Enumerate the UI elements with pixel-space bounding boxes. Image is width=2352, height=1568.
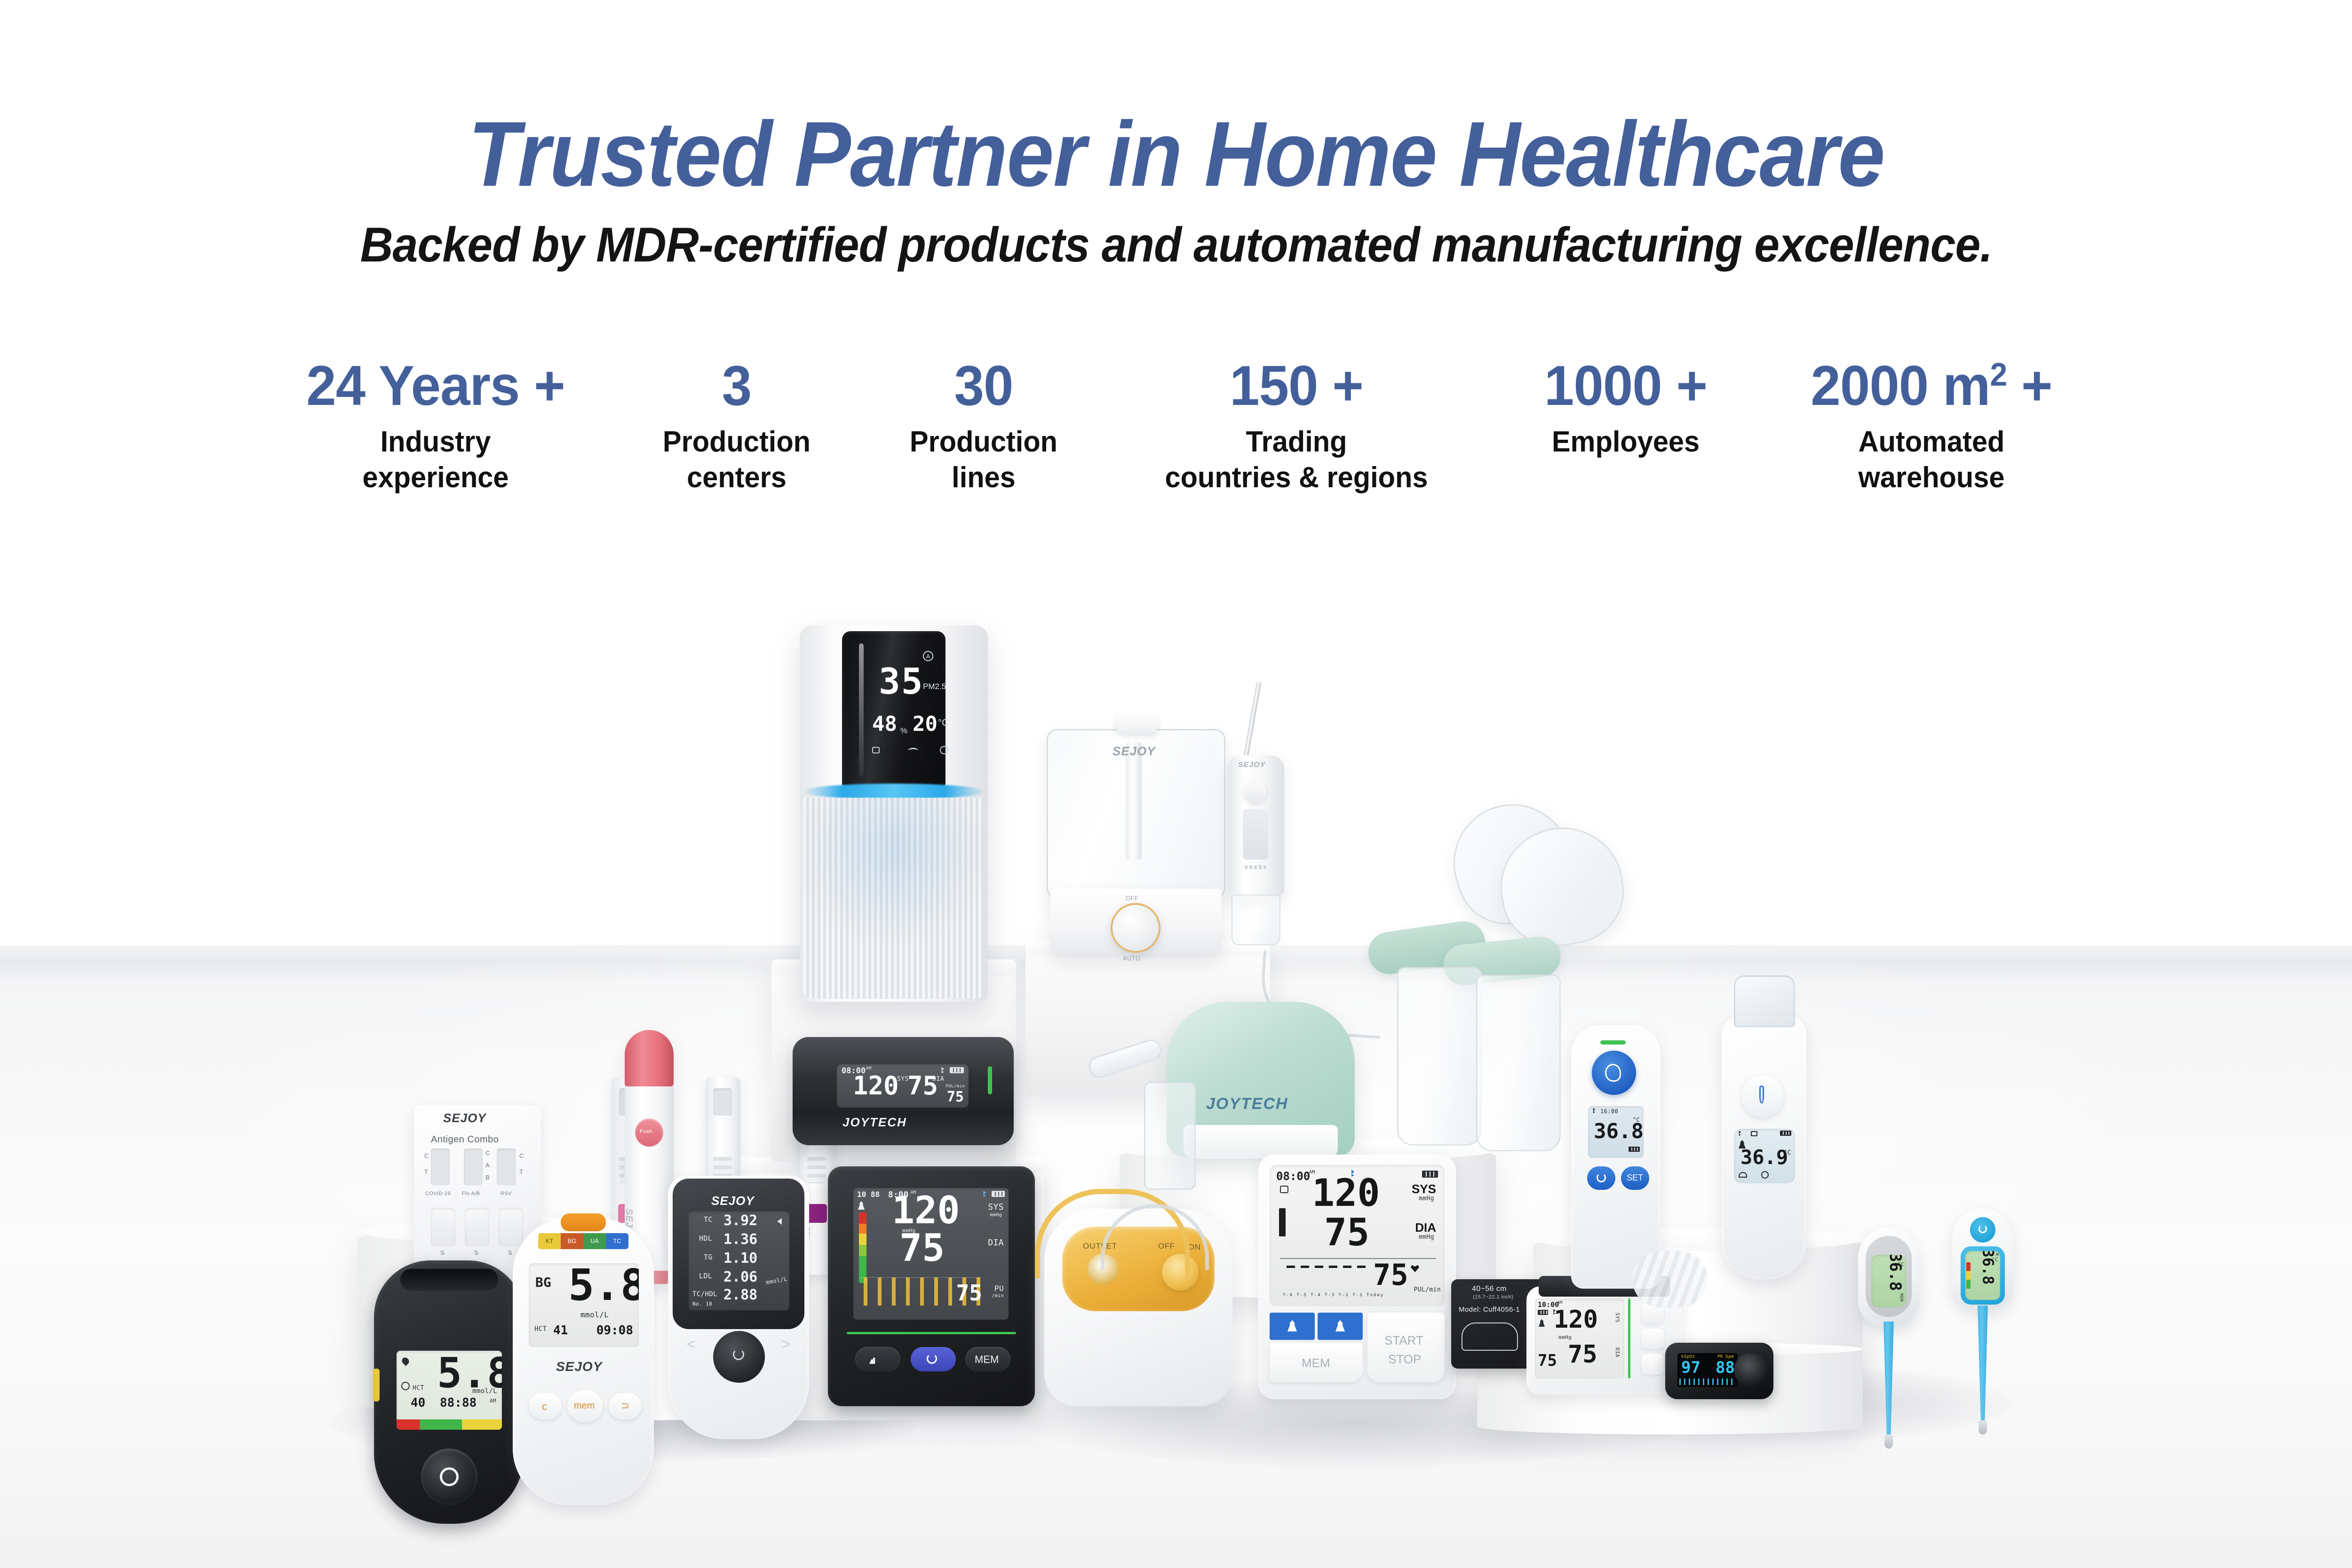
- row-label-ldl: LDL: [699, 1272, 712, 1280]
- ear-thermometer-time: 16:00: [1600, 1108, 1618, 1115]
- air-purifier-display: A 35 PM2.5 48 % 20 °C: [842, 631, 946, 786]
- cholesterol-nav-next[interactable]: >: [781, 1336, 790, 1353]
- product-digital-thermometer-grey[interactable]: 36.8 °C MEM: [1858, 1227, 1919, 1449]
- hand-outline-icon: [1462, 1323, 1518, 1351]
- bp-white-dia-value: 75: [1324, 1216, 1369, 1250]
- bp-black-accent-line: [847, 1332, 1016, 1334]
- humidifier-cap[interactable]: [1116, 713, 1158, 734]
- humidity-value: 48: [872, 712, 897, 736]
- bp-cuff-pul-label: PUL/min: [946, 1084, 965, 1089]
- antigen-window-1: [431, 1148, 450, 1185]
- digital-thermometer-blue-value: 36.8: [1979, 1251, 1997, 1285]
- bp-wrist-ampm: AM: [1557, 1300, 1562, 1305]
- row-label-tc: TC: [704, 1215, 713, 1224]
- heart-icon: [1411, 1265, 1419, 1272]
- lock-icon: [1280, 1186, 1288, 1193]
- smiley-icon: [401, 1382, 410, 1390]
- bp-black-pu-unit: /min: [992, 1293, 1004, 1299]
- air-purifier-light-ring: [803, 784, 985, 800]
- cuff-size-inch-label: (15.7~22.1 inch): [1473, 1294, 1513, 1300]
- pm25-value: 35: [879, 660, 924, 702]
- row-value-ratio: 2.88: [723, 1287, 757, 1303]
- humidifier-inner-column: [1126, 742, 1142, 860]
- bluetooth-icon: [1592, 1108, 1595, 1113]
- glucometer-white-hct-value: 41: [553, 1323, 568, 1338]
- oximeter-display: %SpO2 PR bpm 97 88: [1677, 1353, 1738, 1387]
- row-label-tg: TG: [704, 1253, 713, 1261]
- bp-cuff-status-light: [988, 1066, 992, 1094]
- oximeter-spo2-value: 97: [1681, 1361, 1700, 1375]
- glucometer-white-mode-tabs[interactable]: KT BG UA TC: [538, 1233, 628, 1249]
- antigen-mark-b: B: [485, 1174, 490, 1181]
- bp-wrist-dia-label: DIA: [1614, 1347, 1621, 1357]
- wifi-icon: [908, 748, 918, 753]
- product-oral-irrigator[interactable]: SEJOY: [1223, 710, 1289, 945]
- bluetooth-icon: [940, 1067, 944, 1073]
- humidifier-auto-label: AUTO: [1123, 955, 1140, 962]
- antigen-sample-well-2: [465, 1208, 489, 1246]
- bp-white-mem-label: MEM: [1302, 1356, 1330, 1370]
- bp-white-start-label: START: [1384, 1333, 1423, 1348]
- digital-thermometer-blue-display: 36.8 °C M: [1965, 1251, 2000, 1300]
- battery-icon: [1780, 1131, 1791, 1136]
- bp-black-display: 10 88 8:00 AM 120 SYS mmHg 75 DIA mmHg 7…: [853, 1188, 1009, 1320]
- joytech-base: [1184, 1125, 1338, 1159]
- cuff-model-label: Model: Cuff4056-1: [1459, 1306, 1520, 1314]
- blood-drop-icon: [400, 1356, 410, 1366]
- glucometer-eject-icon: [440, 1467, 459, 1486]
- forehead-thermometer-value: 36.9: [1740, 1148, 1788, 1166]
- irrigator-brand: SEJOY: [1238, 761, 1265, 769]
- row-value-ldl: 2.06: [723, 1269, 757, 1285]
- bp-wrist-dia-value: 75: [1568, 1344, 1597, 1366]
- antigen-mark-a: A: [485, 1162, 490, 1169]
- thermometer-tip: [1979, 1420, 1987, 1434]
- cholesterol-display: TC 3.92 HDL 1.36 TG 1.10 LDL 2.06 TC/HDL…: [689, 1212, 789, 1310]
- product-ear-thermometer[interactable]: 16:00 °C 36.8 SET: [1571, 1025, 1661, 1289]
- glucometer-white-button-c-label: c: [542, 1401, 547, 1413]
- cholesterol-unit: mmol/L: [765, 1275, 787, 1286]
- oximeter-waveform: [1679, 1378, 1736, 1385]
- irrigator-power-button[interactable]: [1244, 781, 1266, 803]
- bp-wrist-sys-label: SYS: [1614, 1313, 1621, 1323]
- strip-window: [713, 1088, 732, 1116]
- ear-thermometer-status-light: [1600, 1040, 1626, 1045]
- glucometer-white-time: 09:08: [596, 1323, 633, 1338]
- pump-bottle-left: [1397, 967, 1482, 1146]
- digital-thermometer-grey-value: 36.8: [1886, 1255, 1905, 1291]
- glucometer-white-unit: mmol/L: [580, 1310, 609, 1319]
- bp-black-date: 10 88: [857, 1190, 880, 1199]
- mode-tab-kt[interactable]: KT: [538, 1233, 561, 1249]
- thermometer-probe: [1975, 1306, 1991, 1424]
- user-icon: [1539, 1319, 1545, 1327]
- digital-thermometer-blue-mem: M: [1996, 1253, 1999, 1258]
- row-value-hdl: 1.36: [723, 1231, 757, 1248]
- bp-wrist-unit: mmHg: [1558, 1334, 1572, 1340]
- forehead-thermometer-display: 36.9 °C: [1734, 1129, 1795, 1183]
- nebulizer-mask-cup: [1144, 1082, 1196, 1190]
- row-value-tg: 1.10: [723, 1250, 757, 1267]
- glucometer-white-top-tab[interactable]: [561, 1213, 606, 1231]
- bluetooth-icon: [982, 1191, 986, 1197]
- humidifier-dial[interactable]: [1111, 903, 1160, 953]
- bp-white-pul-label: PUL/min: [1414, 1286, 1441, 1293]
- bp-wrist-accent-line: [1628, 1299, 1630, 1378]
- product-glucometer-white[interactable]: KT BG UA TC BG 5.8 mmol/L HCT 41 09:08 S…: [513, 1218, 654, 1505]
- product-stage: A 35 PM2.5 48 % 20 °C SEJOY OFF AUTO SEJ…: [0, 0, 2352, 1568]
- glucometer-white-display: BG 5.8 mmol/L HCT 41 09:08: [529, 1263, 639, 1347]
- bp-wrist-power-button[interactable]: [1641, 1329, 1664, 1349]
- cuff-size-label: 40~56 cm: [1472, 1285, 1507, 1293]
- glucometer-white-mode: BG: [535, 1275, 551, 1290]
- glucometer-black-range-bar: [397, 1419, 502, 1430]
- bp-black-sys-value: 120: [892, 1194, 960, 1227]
- product-digital-thermometer-blue[interactable]: 36.8 °C M: [1952, 1209, 2013, 1434]
- glucometer-white-button-mem-label: mem: [574, 1401, 595, 1411]
- lancing-pen-cap: [625, 1030, 674, 1086]
- bp-wrist-sys-value: 120: [1554, 1309, 1598, 1331]
- product-glucometer-black[interactable]: 5.8 mmol/L HCT 40 88:88 AM: [374, 1260, 524, 1524]
- temperature-unit: °C: [938, 718, 948, 729]
- glucometer-black-display: 5.8 mmol/L HCT 40 88:88 AM: [397, 1351, 502, 1430]
- glucometer-black-value: 5.8: [437, 1354, 502, 1392]
- mode-tab-ua[interactable]: UA: [583, 1233, 606, 1249]
- battery-icon: [992, 1191, 1005, 1197]
- glucometer-white-value: 5.8: [568, 1266, 639, 1305]
- air-purifier-grille: [803, 798, 984, 999]
- bp-white-display: 08:00 AM 120 SYS mmHg 75 DIA mmHg 75 PUL…: [1270, 1165, 1445, 1306]
- bp-white-history-ticks: T-6 T-5 T-4 T-3 T-2 T-1 Today: [1283, 1293, 1384, 1298]
- mode-tab-tc[interactable]: TC: [606, 1233, 628, 1249]
- glucometer-black-ampm: AM: [490, 1398, 496, 1404]
- forehead-thermometer-probe-cap: [1734, 975, 1795, 1027]
- bp-wrist-alarm-button[interactable]: [1641, 1354, 1664, 1375]
- bp-black-mem-label: MEM: [975, 1354, 999, 1366]
- digital-thermometer-blue-range-bar: [1966, 1262, 1971, 1289]
- bp-black-unit-2: mmHg: [902, 1227, 915, 1234]
- headphone-icon: [1739, 1172, 1747, 1178]
- product-bp-monitor-white[interactable]: 08:00 AM 120 SYS mmHg 75 DIA mmHg 75 PUL…: [1258, 1155, 1456, 1399]
- antigen-sample-label-2: S: [474, 1249, 478, 1256]
- ear-thermometer-display: 16:00 °C 36.8: [1588, 1106, 1644, 1158]
- product-bp-monitor-black[interactable]: 10 88 8:00 AM 120 SYS mmHg 75 DIA mmHg 7…: [828, 1166, 1035, 1406]
- bp-black-dia-label: DIA: [988, 1238, 1004, 1248]
- smiley-icon: [1761, 1171, 1769, 1179]
- bp-white-time: 08:00: [1276, 1170, 1310, 1183]
- glucometer-white-brand: SEJOY: [556, 1359, 602, 1374]
- mode-tab-bg[interactable]: BG: [561, 1233, 583, 1249]
- bp-black-range-bar: [859, 1212, 866, 1283]
- bp-black-users-button[interactable]: [855, 1347, 900, 1371]
- antigen-panel-covid: COVID-19: [425, 1191, 451, 1196]
- cholesterol-brand: SEJOY: [711, 1194, 755, 1208]
- power-icon: [1979, 1225, 1987, 1233]
- bp-black-pu-value: 75: [956, 1280, 982, 1306]
- bp-white-history-dashes: [1287, 1266, 1367, 1268]
- bp-white-unit-2: mmHg: [1419, 1234, 1434, 1241]
- irrigator-level-bar: [1245, 865, 1266, 869]
- cholesterol-nav-prev[interactable]: <: [687, 1336, 696, 1353]
- ear-thermometer-value: 36.8: [1594, 1122, 1644, 1141]
- digital-thermometer-grey-display: 36.8 °C MEM: [1871, 1255, 1906, 1307]
- antigen-window-3: [497, 1148, 516, 1185]
- bp-white-divider: [1280, 1258, 1436, 1259]
- power-icon: [927, 1354, 937, 1364]
- thermometer-probe: [1881, 1322, 1897, 1439]
- glucometer-black-unit: mmol/L: [472, 1387, 497, 1395]
- product-cholesterol-meter[interactable]: SEJOY TC 3.92 HDL 1.36 TG 1.10 LDL 2.06 …: [668, 1176, 809, 1439]
- product-forehead-thermometer[interactable]: 36.9 °C: [1722, 1016, 1806, 1279]
- antigen-title: Antigen Combo: [431, 1134, 499, 1145]
- antigen-sample-well-1: [431, 1208, 455, 1246]
- battery-icon: [1629, 1147, 1640, 1152]
- digital-thermometer-grey-mem: MEM: [1899, 1293, 1903, 1301]
- temperature-value: 20: [913, 712, 938, 736]
- bp-black-sys-label: SYS: [988, 1202, 1004, 1212]
- bp-cuff-sys-label: SYS: [897, 1076, 909, 1083]
- power-icon: [1597, 1173, 1606, 1182]
- thermometer-tip: [1884, 1434, 1893, 1449]
- ear-thermometer-cable: [1632, 1251, 1708, 1307]
- bp-wrist-display: 10:00 AM 120 SYS mmHg 75 DIA 75: [1535, 1299, 1624, 1378]
- bp-black-dia-value: 75: [899, 1231, 945, 1265]
- product-pulse-oximeter[interactable]: %SpO2 PR bpm 97 88: [1665, 1343, 1773, 1399]
- irrigator-reservoir: [1232, 895, 1280, 945]
- ear-icon: [1605, 1064, 1621, 1082]
- antigen-brand: SEJOY: [443, 1111, 486, 1125]
- strip-ridges: [807, 1157, 826, 1183]
- sound-icon: [777, 1218, 782, 1225]
- antigen-sample-label-3: S: [508, 1249, 512, 1256]
- antigen-mark-c1: C: [424, 1152, 429, 1159]
- bp-white-level-marker: [1279, 1208, 1286, 1236]
- digital-thermometer-grey-unit: °C: [1898, 1261, 1904, 1267]
- oximeter-finger-port: [1734, 1353, 1768, 1387]
- forehead-thermometer-unit: °C: [1784, 1149, 1791, 1156]
- bp-white-stop-label: STOP: [1388, 1352, 1421, 1367]
- glucometer-strip-slot: [400, 1269, 498, 1291]
- product-nebulizer[interactable]: OUTLET OFF ON: [1044, 1162, 1232, 1406]
- bp-wrist-pul-value: 75: [1538, 1351, 1557, 1370]
- strip-color-tab: [806, 1204, 827, 1223]
- irrigator-mode-panel[interactable]: [1243, 809, 1268, 860]
- antigen-sample-label-1: S: [440, 1249, 445, 1256]
- bp-black-pu-label: PU: [994, 1284, 1004, 1293]
- ear-thermometer-set-label: SET: [1627, 1173, 1643, 1183]
- bp-cuff-sys-value: 120: [853, 1075, 899, 1098]
- glucometer-black-time: 88:88: [440, 1396, 477, 1410]
- antigen-window-2: [464, 1148, 483, 1185]
- row-value-tc: 3.92: [723, 1212, 757, 1229]
- bluetooth-icon: [1738, 1131, 1741, 1136]
- lock-icon: [872, 747, 880, 753]
- antigen-mark-c3: C: [519, 1152, 524, 1159]
- antigen-panel-rsv: RSV: [501, 1191, 512, 1196]
- joytech-brand: JOYTECH: [1206, 1095, 1288, 1113]
- bp-white-dia-label: DIA: [1415, 1220, 1436, 1235]
- glucometer-white-hct-label: HCT: [534, 1325, 547, 1333]
- auto-mode-icon: A: [923, 651, 933, 661]
- bp-cuff-brand: JOYTECH: [842, 1115, 907, 1130]
- bp-white-sys-label: SYS: [1412, 1182, 1436, 1196]
- antigen-mark-t3: T: [519, 1168, 523, 1175]
- humidifier-off-label: OFF: [1126, 895, 1138, 902]
- antigen-mark-c2: C: [485, 1149, 490, 1156]
- bp-cuff-ampm: AM: [866, 1066, 872, 1071]
- product-bp-cuff-allinone[interactable]: 08:00 AM 120 SYS 75 DIA 75 PUL/min JOYTE…: [793, 1037, 1014, 1145]
- thermometer-icon: [1759, 1085, 1764, 1103]
- bp-black-unit-1: mmHg: [990, 1212, 1002, 1218]
- pump-bottle-right: [1476, 974, 1561, 1151]
- pm25-label: PM2.5: [923, 682, 946, 691]
- product-humidifier[interactable]: SEJOY OFF AUTO: [1042, 701, 1230, 955]
- antigen-panel-flu: Flu A/B: [462, 1191, 480, 1196]
- irrigator-nozzle: [1242, 681, 1261, 765]
- cholesterol-record: No. 18: [692, 1301, 712, 1307]
- bp-white-sys-value: 120: [1312, 1176, 1380, 1210]
- glucometer-black-hct-label: HCT: [413, 1385, 424, 1392]
- bp-white-unit-1: mmHg: [1419, 1195, 1434, 1202]
- antigen-mark-t1: T: [424, 1168, 428, 1175]
- timer-icon: [940, 746, 948, 754]
- glucometer-white-button-right-label: ⊃: [621, 1400, 629, 1412]
- humidifier-brand: SEJOY: [1112, 744, 1156, 759]
- mute-icon: [1751, 1131, 1757, 1136]
- row-label-hdl: HDL: [699, 1234, 712, 1243]
- user-icon: [858, 1201, 865, 1210]
- bp-cuff-pul-value: 75: [947, 1089, 964, 1105]
- bp-cuff-dia-label: DIA: [932, 1076, 944, 1083]
- bp-cuff-display: 08:00 AM 120 SYS 75 DIA 75 PUL/min: [837, 1064, 969, 1108]
- battery-icon: [950, 1067, 964, 1073]
- battery-icon: [1538, 1310, 1548, 1315]
- power-icon: [733, 1349, 744, 1360]
- product-air-purifier[interactable]: A 35 PM2.5 48 % 20 °C: [800, 626, 988, 1002]
- oximeter-pr-value: 88: [1716, 1361, 1735, 1375]
- battery-icon: [1422, 1171, 1438, 1178]
- lancing-pen-button-label: Push: [640, 1129, 652, 1134]
- glucometer-side-button-left[interactable]: [373, 1369, 380, 1402]
- row-label-ratio: TC/HDL: [692, 1291, 717, 1298]
- bp-white-pul-value: 75: [1373, 1262, 1408, 1288]
- glucometer-black-hct-value: 40: [411, 1396, 425, 1410]
- humidity-unit: %: [900, 726, 907, 736]
